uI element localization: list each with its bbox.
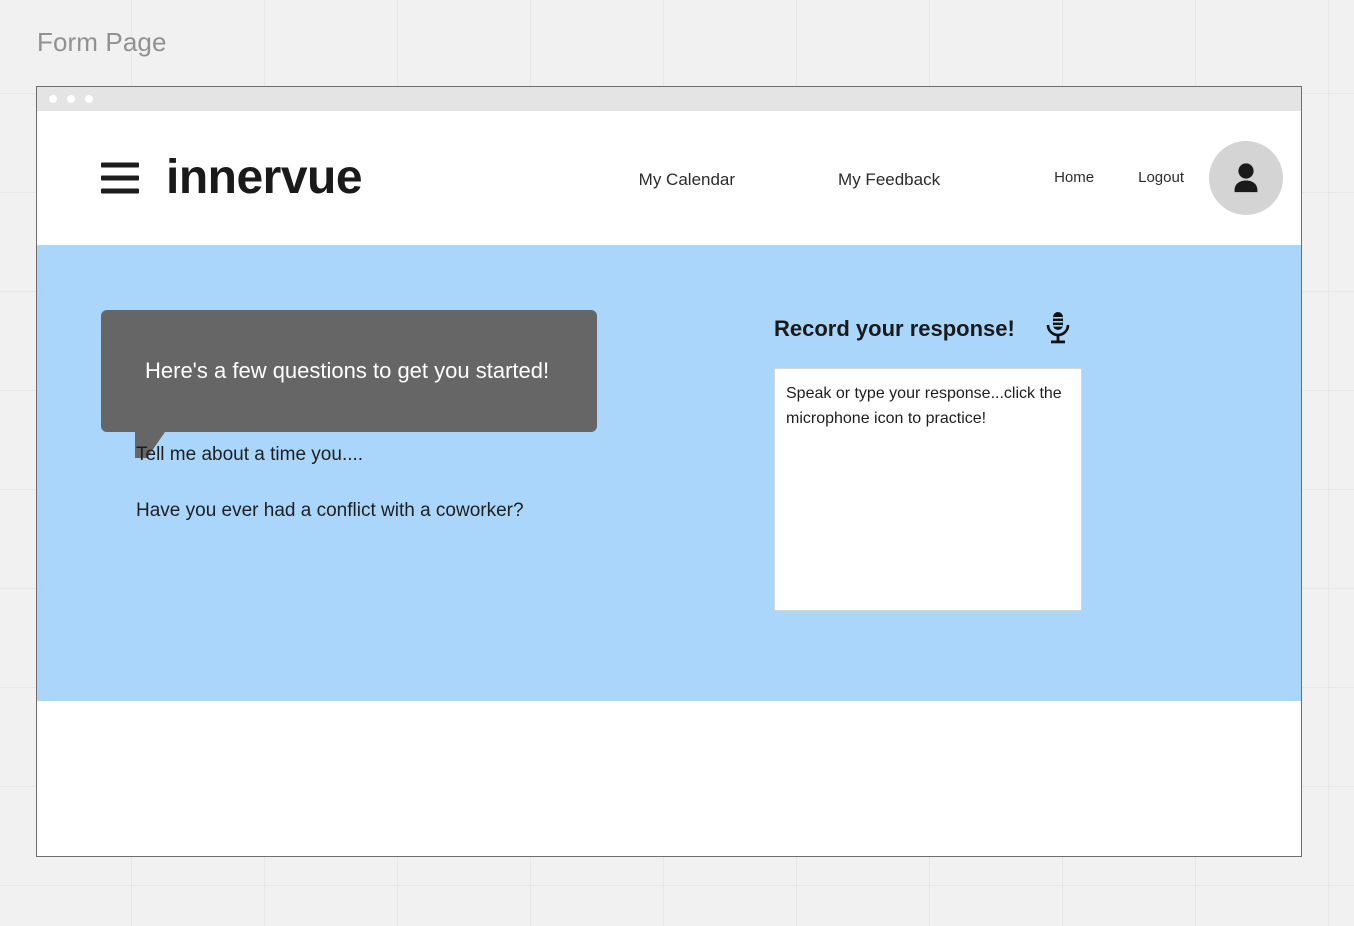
user-avatar-icon [1226, 158, 1266, 198]
main-navigation: My Calendar My Feedback Home Logout [639, 111, 1283, 245]
nav-item-my-feedback[interactable]: My Feedback [838, 170, 940, 190]
nav-item-home[interactable]: Home [1054, 169, 1094, 186]
app-header: innervue My Calendar My Feedback Home Lo… [37, 111, 1301, 245]
response-header: Record your response! [774, 307, 1094, 351]
close-dot[interactable] [49, 95, 57, 103]
speech-bubble-body: Here's a few questions to get you starte… [101, 310, 597, 432]
response-placeholder-text: Speak or type your response...click the … [786, 381, 1069, 431]
content-panel: Here's a few questions to get you starte… [37, 245, 1301, 701]
question-list: Tell me about a time you.... Have you ev… [136, 441, 536, 525]
nav-item-logout[interactable]: Logout [1138, 169, 1184, 186]
response-section: Record your response! Speak or type your… [774, 307, 1094, 611]
speech-bubble: Here's a few questions to get you starte… [101, 310, 597, 458]
avatar[interactable] [1209, 141, 1283, 215]
speech-bubble-text: Here's a few questions to get you starte… [145, 357, 549, 385]
browser-window-mock: innervue My Calendar My Feedback Home Lo… [36, 86, 1302, 857]
footer-area [37, 701, 1301, 856]
nav-item-my-calendar[interactable]: My Calendar [639, 170, 735, 190]
page-title: Form Page [37, 25, 167, 59]
brand-logo[interactable]: innervue [166, 150, 362, 206]
response-title: Record your response! [774, 315, 1015, 343]
microphone-icon[interactable] [1043, 310, 1073, 348]
maximize-dot[interactable] [85, 95, 93, 103]
hamburger-bar-1 [101, 163, 139, 168]
minimize-dot[interactable] [67, 95, 75, 103]
question-item-1: Tell me about a time you.... [136, 441, 536, 469]
hamburger-bar-2 [101, 176, 139, 181]
hamburger-bar-3 [101, 189, 139, 194]
hamburger-icon[interactable] [101, 163, 139, 194]
browser-title-bar [37, 87, 1301, 111]
response-textarea[interactable]: Speak or type your response...click the … [774, 368, 1082, 611]
question-item-2: Have you ever had a conflict with a cowo… [136, 497, 536, 525]
